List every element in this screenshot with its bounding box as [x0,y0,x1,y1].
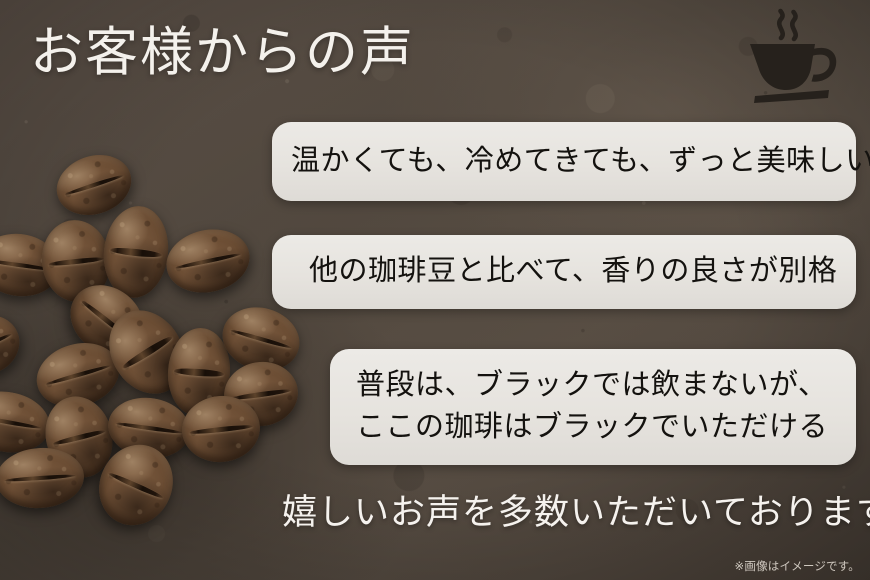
testimonial-line: 他の珈琲豆と比べて、香りの良さが別格 [309,251,837,293]
testimonial-card: 他の珈琲豆と比べて、香りの良さが別格 [272,235,856,309]
coffee-bean [160,222,255,300]
image-disclaimer: ※画像はイメージです。 [735,558,860,574]
coffee-bean [0,305,29,385]
testimonial-text: 他の珈琲豆と比べて、香りの良さが別格 [309,251,837,293]
promo-banner: お客様からの声 温 [0,0,870,580]
testimonial-card: 普段は、ブラックでは飲まないが、 ここの珈琲はブラックでいただける [330,349,856,465]
testimonial-card: 温かくても、冷めてきても、ずっと美味しい [272,122,856,201]
testimonial-line: ここの珈琲はブラックでいただける [356,407,828,449]
testimonial-line: 普段は、ブラックでは飲まないが、 [356,365,828,407]
testimonial-text: 温かくても、冷めてきても、ずっと美味しい [291,141,870,183]
coffee-cup-icon [737,8,845,106]
page-title: お客様からの声 [30,22,415,85]
testimonial-line: 温かくても、冷めてきても、ずっと美味しい [291,141,870,183]
closing-statement: 嬉しいお声を多数いただいております。 [282,492,870,534]
testimonial-text: 普段は、ブラックでは飲まないが、 ここの珈琲はブラックでいただける [356,365,828,449]
